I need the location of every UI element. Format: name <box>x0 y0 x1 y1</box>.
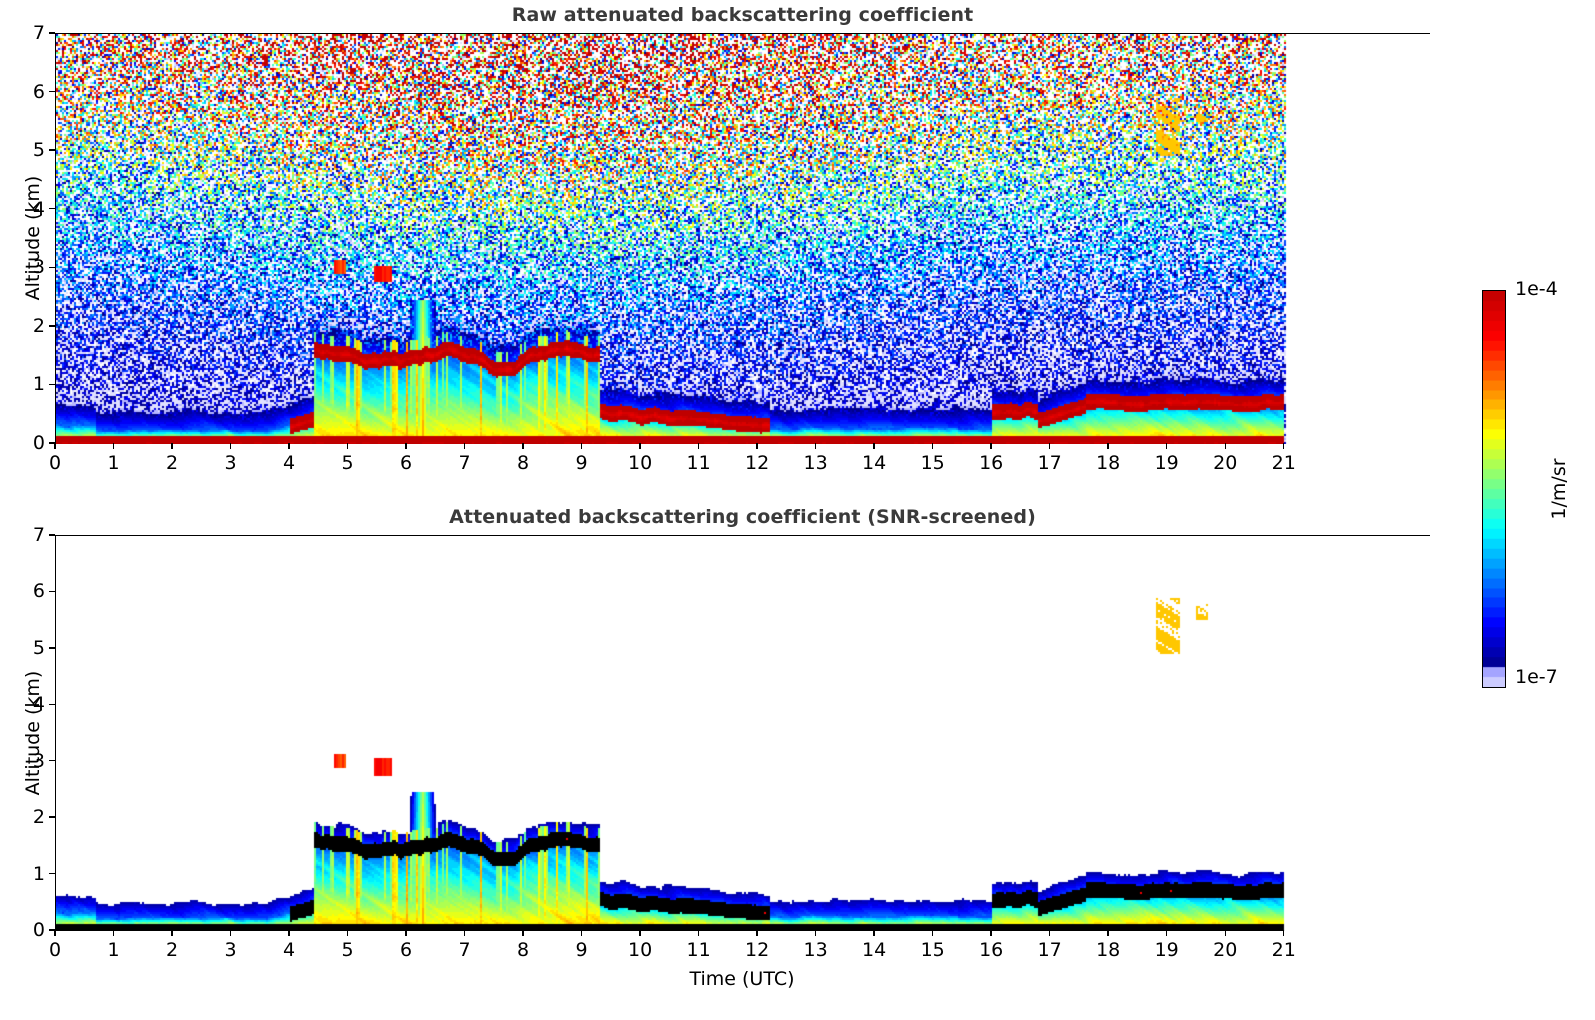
x-tick-label: 9 <box>576 939 588 961</box>
x-tick <box>1283 930 1284 936</box>
colorbar-gradient <box>1483 291 1505 687</box>
x-tick-label: 21 <box>1272 452 1296 474</box>
x-tick <box>1049 930 1050 936</box>
y-tick <box>49 534 55 535</box>
x-tick-label: 10 <box>628 939 652 961</box>
x-tick-label: 2 <box>166 939 178 961</box>
x-tick <box>405 930 406 936</box>
x-tick <box>171 930 172 936</box>
x-tick-label: 5 <box>342 939 354 961</box>
x-tick-label: 15 <box>921 452 945 474</box>
x-tick-label: 17 <box>1038 939 1062 961</box>
x-tick <box>581 930 582 936</box>
panel-title-raw: Raw attenuated backscattering coefficien… <box>55 4 1430 26</box>
x-tick-label: 13 <box>804 939 828 961</box>
x-tick-label: 11 <box>687 452 711 474</box>
y-tick-label: 5 <box>19 139 45 161</box>
y-tick-label: 3 <box>19 256 45 278</box>
x-tick <box>54 930 55 936</box>
x-tick-label: 6 <box>400 452 412 474</box>
plot-area-screened <box>55 535 1430 930</box>
x-tick <box>873 930 874 936</box>
x-tick-label: 10 <box>628 452 652 474</box>
x-tick <box>990 930 991 936</box>
x-tick <box>756 930 757 936</box>
x-tick <box>1225 443 1226 449</box>
y-tick-label: 7 <box>19 22 45 44</box>
x-tick-label: 14 <box>862 939 886 961</box>
x-tick-label: 8 <box>517 452 529 474</box>
y-axis-label-raw: Altitude (km) <box>22 176 44 301</box>
x-tick <box>698 930 699 936</box>
lidar-backscatter-figure: Raw attenuated backscattering coefficien… <box>0 0 1595 1020</box>
colorbar-max-label: 1e-4 <box>1515 278 1558 300</box>
x-tick-label: 20 <box>1213 452 1237 474</box>
x-tick-label: 3 <box>224 452 236 474</box>
y-tick-label: 0 <box>19 919 45 941</box>
colorbar-min-label: 1e-7 <box>1515 666 1558 688</box>
x-tick-label: 19 <box>1155 939 1179 961</box>
y-tick <box>49 704 55 705</box>
y-tick-label: 7 <box>19 524 45 546</box>
x-tick-label: 0 <box>49 939 61 961</box>
x-tick-label: 14 <box>862 452 886 474</box>
x-tick <box>756 443 757 449</box>
x-tick-label: 3 <box>224 939 236 961</box>
x-tick-label: 9 <box>576 452 588 474</box>
y-tick-label: 5 <box>19 637 45 659</box>
y-tick <box>49 929 55 930</box>
x-tick <box>288 443 289 449</box>
y-tick <box>49 149 55 150</box>
x-tick <box>171 443 172 449</box>
x-tick <box>990 443 991 449</box>
x-tick <box>639 930 640 936</box>
x-tick <box>288 930 289 936</box>
x-tick-label: 13 <box>804 452 828 474</box>
y-tick <box>49 267 55 268</box>
y-tick-label: 3 <box>19 750 45 772</box>
heatmap-canvas-raw <box>56 34 1431 444</box>
y-tick-label: 4 <box>19 198 45 220</box>
y-axis-label-screened: Altitude (km) <box>22 671 44 796</box>
y-tick <box>49 384 55 385</box>
x-tick-label: 7 <box>459 939 471 961</box>
x-tick-label: 1 <box>107 452 119 474</box>
colorbar <box>1482 290 1506 688</box>
y-tick <box>49 325 55 326</box>
x-tick <box>873 443 874 449</box>
x-tick-label: 12 <box>745 452 769 474</box>
x-tick-label: 17 <box>1038 452 1062 474</box>
x-tick-label: 8 <box>517 939 529 961</box>
x-tick-label: 7 <box>459 452 471 474</box>
x-tick-label: 5 <box>342 452 354 474</box>
x-tick <box>464 443 465 449</box>
x-tick <box>1107 930 1108 936</box>
x-tick <box>1225 930 1226 936</box>
y-tick-label: 0 <box>19 432 45 454</box>
heatmap-canvas-screened <box>56 536 1431 931</box>
x-tick <box>581 443 582 449</box>
x-tick <box>522 443 523 449</box>
x-tick <box>815 443 816 449</box>
y-tick-label: 1 <box>19 863 45 885</box>
x-axis-label: Time (UTC) <box>689 968 794 990</box>
x-tick <box>113 443 114 449</box>
x-tick-label: 16 <box>979 452 1003 474</box>
y-tick-label: 2 <box>19 806 45 828</box>
x-tick <box>464 930 465 936</box>
x-tick-label: 11 <box>687 939 711 961</box>
y-tick <box>49 816 55 817</box>
x-tick <box>54 443 55 449</box>
x-tick-label: 0 <box>49 452 61 474</box>
y-tick-label: 6 <box>19 81 45 103</box>
x-tick-label: 2 <box>166 452 178 474</box>
x-tick-label: 12 <box>745 939 769 961</box>
y-tick <box>49 760 55 761</box>
x-tick-label: 21 <box>1272 939 1296 961</box>
plot-area-raw <box>55 33 1430 443</box>
x-tick-label: 16 <box>979 939 1003 961</box>
colorbar-unit-label: 1/m/sr <box>1548 458 1570 519</box>
y-tick-label: 4 <box>19 693 45 715</box>
x-tick-label: 4 <box>283 452 295 474</box>
panel-title-screened: Attenuated backscattering coefficient (S… <box>55 506 1430 528</box>
x-tick-label: 19 <box>1155 452 1179 474</box>
y-tick <box>49 208 55 209</box>
x-tick <box>698 443 699 449</box>
x-tick <box>1166 930 1167 936</box>
x-tick <box>1107 443 1108 449</box>
x-tick <box>230 930 231 936</box>
y-tick <box>49 91 55 92</box>
x-tick <box>113 930 114 936</box>
x-tick <box>1049 443 1050 449</box>
x-tick-label: 18 <box>1096 939 1120 961</box>
y-tick <box>49 873 55 874</box>
x-tick-label: 6 <box>400 939 412 961</box>
x-tick <box>815 930 816 936</box>
x-tick-label: 1 <box>107 939 119 961</box>
y-tick <box>49 591 55 592</box>
x-tick <box>1283 443 1284 449</box>
x-tick <box>932 443 933 449</box>
x-tick-label: 18 <box>1096 452 1120 474</box>
y-tick <box>49 647 55 648</box>
y-tick <box>49 32 55 33</box>
x-tick <box>230 443 231 449</box>
x-tick <box>347 930 348 936</box>
x-tick <box>1166 443 1167 449</box>
x-tick-label: 4 <box>283 939 295 961</box>
x-tick <box>405 443 406 449</box>
y-tick-label: 1 <box>19 373 45 395</box>
y-tick-label: 6 <box>19 580 45 602</box>
x-tick-label: 20 <box>1213 939 1237 961</box>
x-tick-label: 15 <box>921 939 945 961</box>
y-tick <box>49 442 55 443</box>
y-tick-label: 2 <box>19 315 45 337</box>
x-tick <box>522 930 523 936</box>
x-tick <box>932 930 933 936</box>
x-tick <box>639 443 640 449</box>
x-tick <box>347 443 348 449</box>
